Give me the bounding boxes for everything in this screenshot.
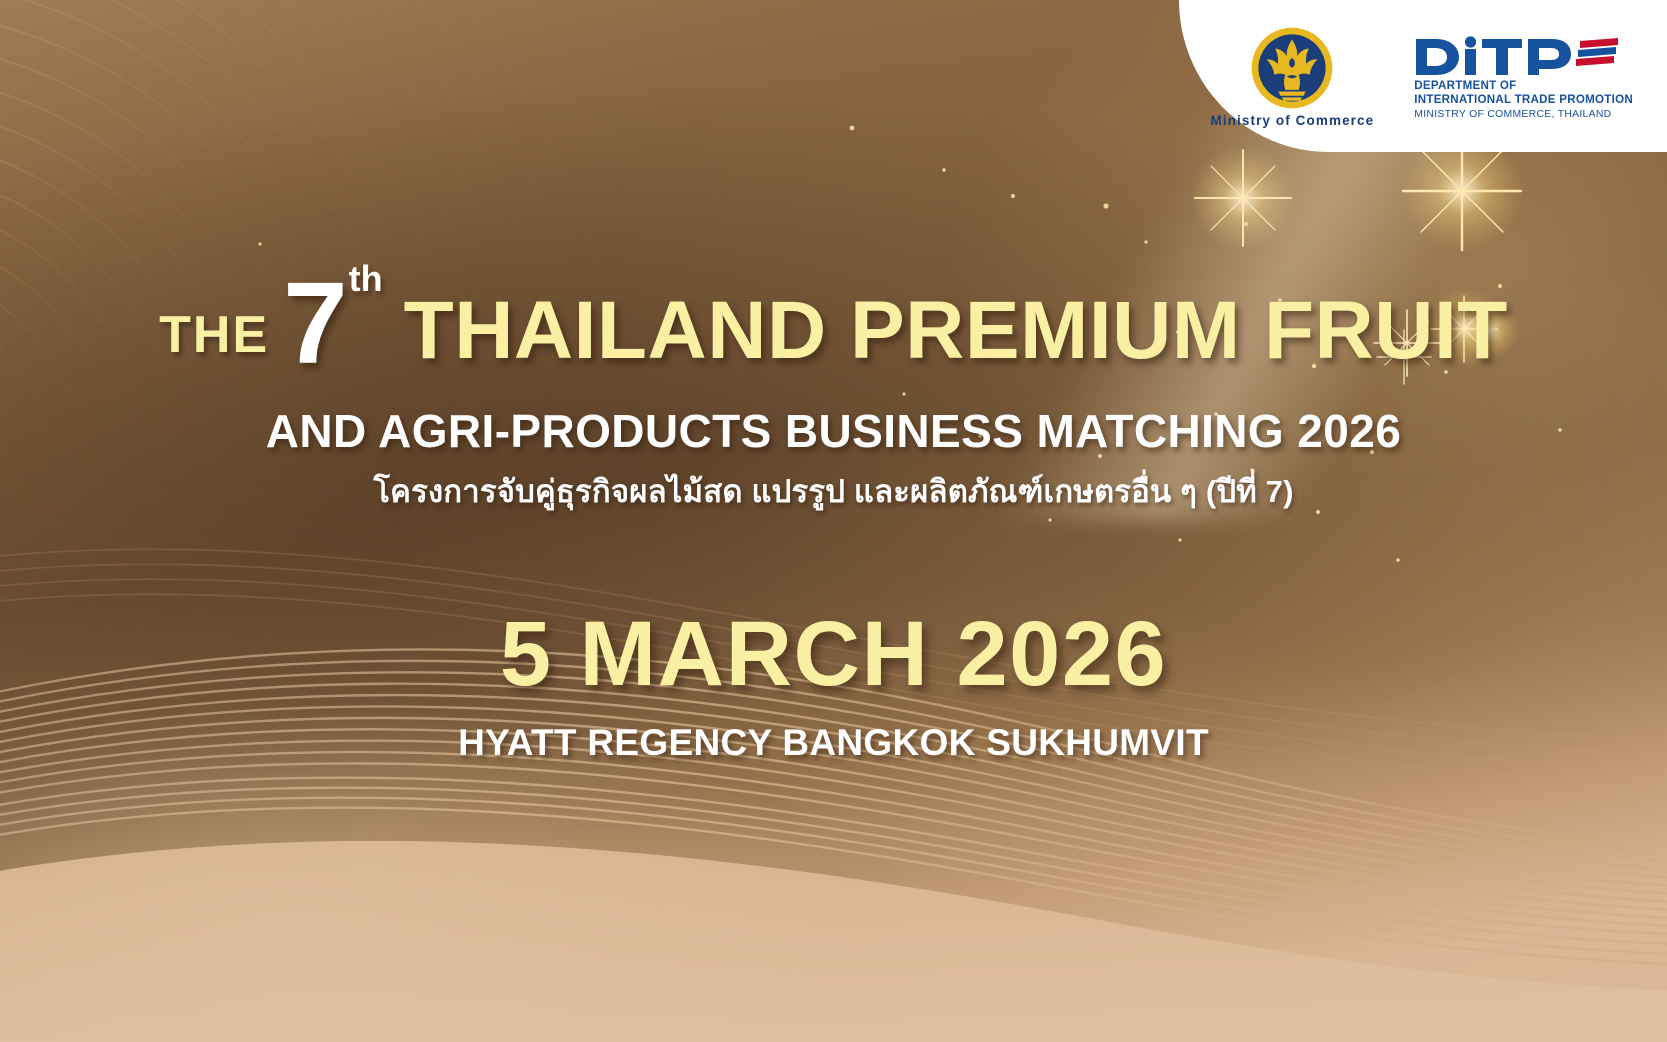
ditp-subtitle-line1: DEPARTMENT OF (1414, 79, 1633, 93)
ministry-logo-label: Ministry of Commerce (1210, 113, 1374, 128)
promotional-banner: Ministry of Commerce (0, 0, 1667, 1042)
ministry-of-commerce-logo: Ministry of Commerce (1210, 26, 1374, 128)
ditp-subtitle-line3: MINISTRY OF COMMERCE, THAILAND (1414, 108, 1633, 121)
thai-garuda-emblem-icon (1250, 26, 1334, 110)
logo-panel: Ministry of Commerce (1179, 0, 1667, 152)
ditp-wordmark-icon (1414, 35, 1622, 79)
background-dark-vignette (0, 0, 1667, 1042)
ditp-logo: DEPARTMENT OF INTERNATIONAL TRADE PROMOT… (1414, 35, 1633, 120)
ditp-subtitle-line2: INTERNATIONAL TRADE PROMOTION (1414, 93, 1633, 107)
